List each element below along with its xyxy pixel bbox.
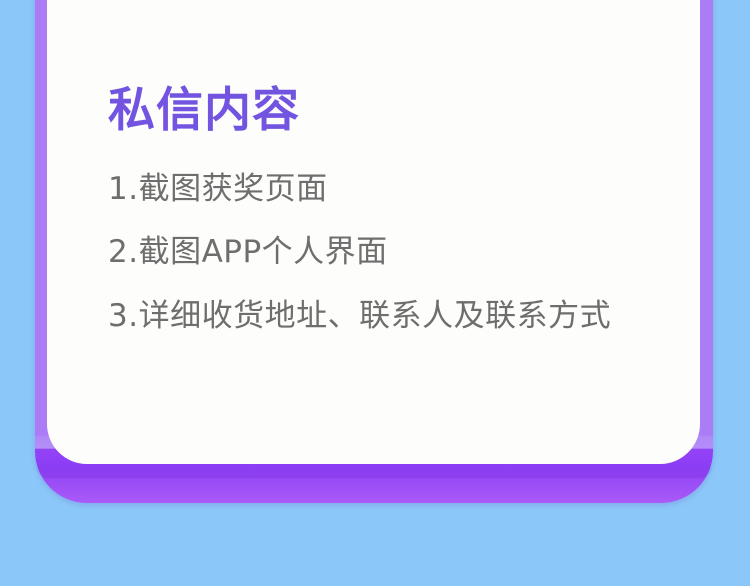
list-item: 2.截图APP个人界面 xyxy=(108,235,672,270)
list-item: 1.截图获奖页面 xyxy=(108,172,672,207)
list-item: 3.详细收货地址、联系人及联系方式 xyxy=(108,299,672,334)
bezel-inner-shadow xyxy=(35,464,713,478)
content-card-inner: 私信内容 1.截图获奖页面 2.截图APP个人界面 3.详细收货地址、联系人及联… xyxy=(108,85,672,464)
content-card-panel: 私信内容 1.截图获奖页面 2.截图APP个人界面 3.详细收货地址、联系人及联… xyxy=(47,0,700,464)
requirement-list: 1.截图获奖页面 2.截图APP个人界面 3.详细收货地址、联系人及联系方式 xyxy=(108,172,672,334)
screen-background: 私信内容 1.截图获奖页面 2.截图APP个人界面 3.详细收货地址、联系人及联… xyxy=(0,0,750,586)
page-title: 私信内容 xyxy=(108,85,672,138)
